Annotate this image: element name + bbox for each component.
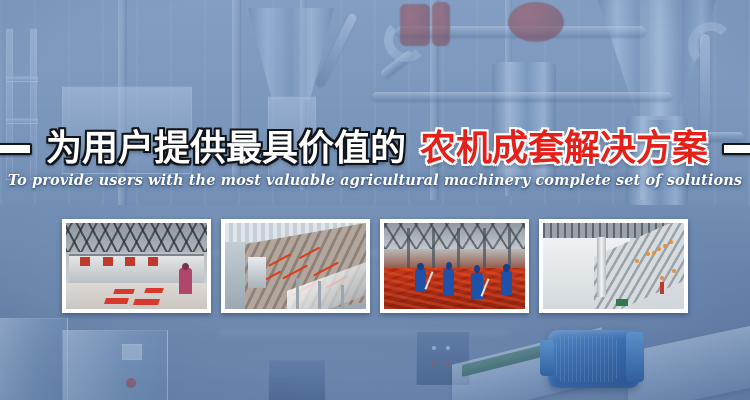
background-photo <box>0 0 750 400</box>
thumbnail-4-image <box>543 223 684 309</box>
thumbnail-3[interactable] <box>380 219 529 313</box>
headline-subtitle: To provide users with the most valuable … <box>0 172 750 189</box>
thumbnail-2-image <box>225 223 366 309</box>
thumbnail-strip <box>62 219 688 313</box>
thumbnail-4[interactable] <box>539 219 688 313</box>
headline-row: 为用户提供最具价值的 农机成套解决方案 <box>0 124 750 174</box>
dash-right-icon <box>722 143 750 155</box>
thumbnail-1-image <box>66 223 207 309</box>
thumbnail-2[interactable] <box>221 219 370 313</box>
dash-left-icon <box>0 143 32 155</box>
thumbnail-3-image <box>384 223 525 309</box>
hero-banner: 为用户提供最具价值的 农机成套解决方案 To provide users wit… <box>0 0 750 400</box>
headline-red: 农机成套解决方案 <box>420 127 708 171</box>
thumbnail-1[interactable] <box>62 219 211 313</box>
headline-white: 为用户提供最具价值的 <box>46 127 406 171</box>
